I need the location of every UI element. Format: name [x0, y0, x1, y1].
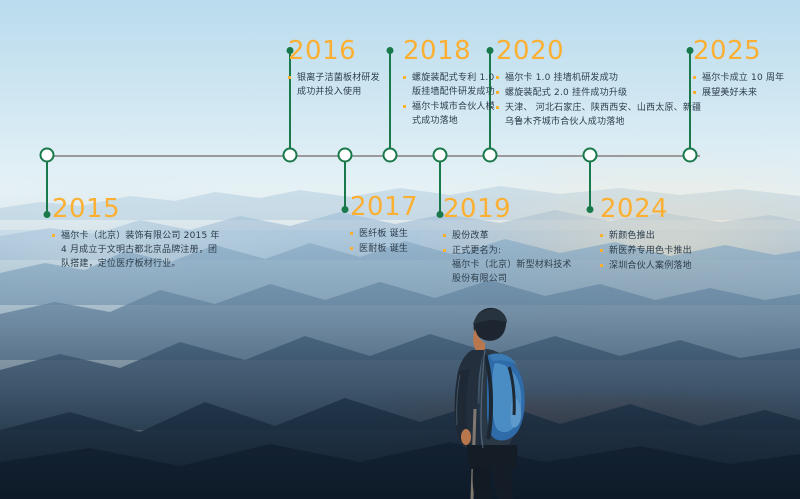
- bullet-item: 福尔卡成立 10 周年: [693, 71, 784, 85]
- timeline-connector-2018: [389, 50, 391, 155]
- bullet-line: 福尔卡成立 10 周年: [702, 73, 784, 83]
- event-bullets-2019: 股份改革正式更名为:福尔卡（北京）新型材料技术股份有限公司: [443, 229, 572, 286]
- timeline-node-2015[interactable]: [40, 148, 55, 163]
- event-bullets-2016: 银离子洁菌板材研发成功并投入使用: [288, 71, 380, 99]
- event-bullets-2025: 福尔卡成立 10 周年展望美好未来: [693, 71, 784, 100]
- bullet-line: 乌鲁木齐城市合伙人成功落地: [505, 115, 701, 129]
- bullet-item: 新医养专用色卡推出: [600, 244, 692, 258]
- timeline-connector-2015: [46, 155, 48, 215]
- timeline-node-2024[interactable]: [583, 148, 598, 163]
- event-year-2015: 2015: [52, 196, 220, 222]
- event-year-2019: 2019: [443, 196, 572, 222]
- timeline-event-2018[interactable]: 2018螺旋装配式专利 1.0版挂墙配件研发成功福尔卡城市合伙人模式成功落地: [403, 38, 495, 129]
- event-year-2017: 2017: [350, 194, 418, 220]
- bullet-line: 螺旋装配式专利 1.0: [412, 73, 494, 83]
- bullet-line: 医纤板 诞生: [359, 229, 408, 239]
- event-year-2024: 2024: [600, 196, 692, 222]
- event-bullets-2020: 福尔卡 1.0 挂墙机研发成功螺旋装配式 2.0 挂件成功升级天津、 河北石家庄…: [496, 71, 701, 129]
- bullet-item: 深圳合伙人案例落地: [600, 259, 692, 273]
- timeline-event-2015[interactable]: 2015福尔卡（北京）装饰有限公司 2015 年4 月成立于文明古都北京品牌注册…: [52, 196, 220, 272]
- bullet-line: 版挂墙配件研发成功: [412, 85, 495, 99]
- bullet-line: 深圳合伙人案例落地: [609, 261, 692, 271]
- event-year-2016: 2016: [288, 38, 380, 64]
- bullet-line: 福尔卡（北京）新型材料技术: [452, 258, 572, 272]
- event-bullets-2018: 螺旋装配式专利 1.0版挂墙配件研发成功福尔卡城市合伙人模式成功落地: [403, 71, 495, 128]
- bullet-line: 螺旋装配式 2.0 挂件成功升级: [505, 88, 627, 98]
- event-bullets-2024: 新颜色推出新医养专用色卡推出深圳合伙人案例落地: [600, 229, 692, 273]
- bullet-line: 新颜色推出: [609, 231, 655, 241]
- bullet-item: 天津、 河北石家庄、陕西西安、山西太原、新疆乌鲁木齐城市合伙人成功落地: [496, 101, 701, 129]
- bullet-line: 4 月成立于文明古都北京品牌注册，团: [61, 243, 220, 257]
- event-bullets-2017: 医纤板 诞生医耐板 诞生: [350, 227, 418, 256]
- timeline-event-2019[interactable]: 2019股份改革正式更名为:福尔卡（北京）新型材料技术股份有限公司: [443, 196, 572, 287]
- bullet-item: 福尔卡 1.0 挂墙机研发成功: [496, 71, 701, 85]
- bullet-item: 福尔卡（北京）装饰有限公司 2015 年4 月成立于文明古都北京品牌注册，团队搭…: [52, 229, 220, 271]
- bullet-line: 股份改革: [452, 231, 489, 241]
- timeline-infographic: 2015福尔卡（北京）装饰有限公司 2015 年4 月成立于文明古都北京品牌注册…: [0, 0, 800, 499]
- event-year-2018: 2018: [403, 38, 495, 64]
- timeline-connector-2019: [439, 155, 441, 215]
- bullet-line: 成功并投入使用: [297, 85, 380, 99]
- timeline-axis: [47, 155, 700, 157]
- bullet-item: 螺旋装配式 2.0 挂件成功升级: [496, 86, 701, 100]
- timeline-event-2024[interactable]: 2024新颜色推出新医养专用色卡推出深圳合伙人案例落地: [600, 196, 692, 274]
- event-year-2020: 2020: [496, 38, 701, 64]
- bullet-line: 正式更名为:: [452, 246, 501, 256]
- event-bullets-2015: 福尔卡（北京）装饰有限公司 2015 年4 月成立于文明古都北京品牌注册，团队搭…: [52, 229, 220, 271]
- bullet-item: 福尔卡城市合伙人模式成功落地: [403, 100, 495, 128]
- bullet-line: 展望美好未来: [702, 88, 757, 98]
- timeline-node-2025[interactable]: [683, 148, 698, 163]
- timeline-event-2020[interactable]: 2020福尔卡 1.0 挂墙机研发成功螺旋装配式 2.0 挂件成功升级天津、 河…: [496, 38, 701, 130]
- bullet-line: 福尔卡 1.0 挂墙机研发成功: [505, 73, 618, 83]
- timeline-event-2025[interactable]: 2025福尔卡成立 10 周年展望美好未来: [693, 38, 784, 101]
- bullet-line: 福尔卡城市合伙人模: [412, 102, 495, 112]
- bullet-item: 银离子洁菌板材研发成功并投入使用: [288, 71, 380, 99]
- timeline-node-2017[interactable]: [338, 148, 353, 163]
- bullet-item: 正式更名为:福尔卡（北京）新型材料技术股份有限公司: [443, 244, 572, 286]
- bullet-line: 福尔卡（北京）装饰有限公司 2015 年: [61, 231, 220, 241]
- hiker-figure: [425, 305, 555, 499]
- bullet-item: 股份改革: [443, 229, 572, 243]
- timeline-node-2016[interactable]: [283, 148, 298, 163]
- timeline-node-2018[interactable]: [383, 148, 398, 163]
- bullet-item: 螺旋装配式专利 1.0版挂墙配件研发成功: [403, 71, 495, 99]
- bullet-line: 新医养专用色卡推出: [609, 246, 692, 256]
- bullet-item: 展望美好未来: [693, 86, 784, 100]
- timeline-connector-2024: [589, 155, 591, 210]
- bullet-item: 新颜色推出: [600, 229, 692, 243]
- timeline-node-2019[interactable]: [433, 148, 448, 163]
- bullet-line: 股份有限公司: [452, 272, 572, 286]
- bullet-item: 医耐板 诞生: [350, 242, 418, 256]
- bullet-item: 医纤板 诞生: [350, 227, 418, 241]
- timeline-node-2020[interactable]: [483, 148, 498, 163]
- bullet-line: 队搭建，定位医疗板材行业。: [61, 257, 220, 271]
- bullet-line: 银离子洁菌板材研发: [297, 73, 380, 83]
- bullet-line: 式成功落地: [412, 114, 495, 128]
- bullet-line: 医耐板 诞生: [359, 244, 408, 254]
- timeline-connector-2017: [344, 155, 346, 210]
- timeline-event-2016[interactable]: 2016银离子洁菌板材研发成功并投入使用: [288, 38, 380, 100]
- timeline-event-2017[interactable]: 2017医纤板 诞生医耐板 诞生: [350, 194, 418, 257]
- bullet-line: 天津、 河北石家庄、陕西西安、山西太原、新疆: [505, 103, 701, 113]
- event-year-2025: 2025: [693, 38, 784, 64]
